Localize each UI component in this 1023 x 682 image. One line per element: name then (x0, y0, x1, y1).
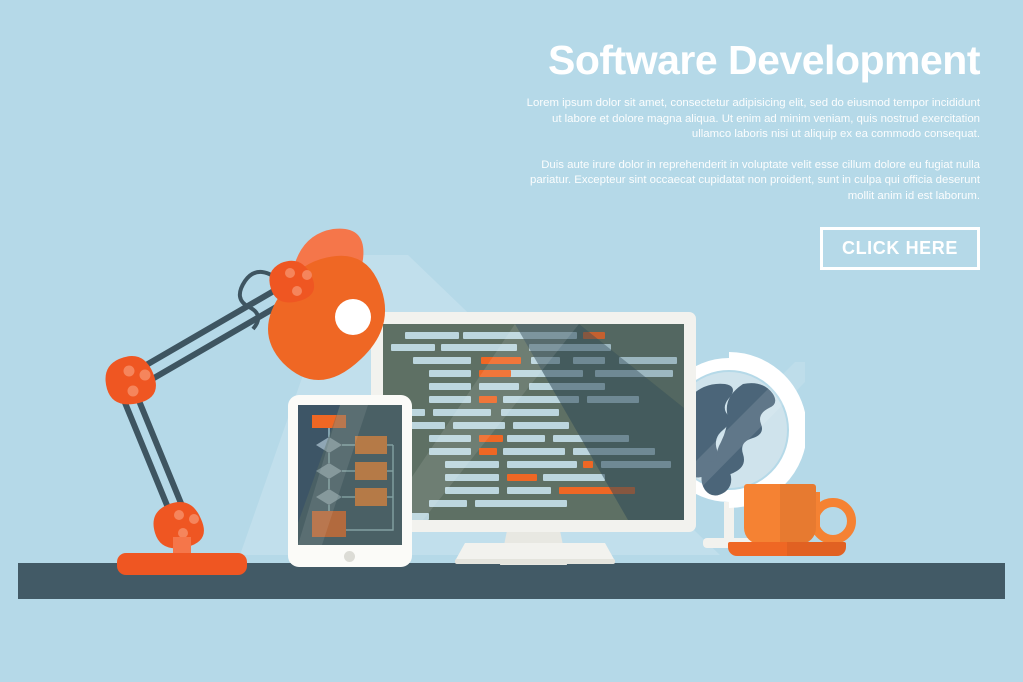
code-line-segment (507, 487, 551, 494)
code-line-segment (463, 332, 577, 339)
code-line-segment (601, 461, 671, 468)
code-line-segment (573, 357, 605, 364)
code-line-segment (481, 357, 521, 364)
code-line-segment (475, 500, 567, 507)
code-line-segment (503, 448, 565, 455)
code-line-segment (391, 344, 435, 351)
code-line-segment (587, 396, 639, 403)
monitor-base (455, 543, 615, 565)
code-line-segment (429, 370, 471, 377)
code-line-segment (479, 435, 503, 442)
body-paragraph-2: Duis aute irure dolor in reprehenderit i… (520, 158, 980, 205)
code-line-segment (503, 396, 579, 403)
code-line-segment (429, 396, 471, 403)
code-line-segment (531, 357, 560, 364)
code-line-segment (619, 357, 677, 364)
code-line-segment (453, 422, 505, 429)
illustration-canvas: Software Development Lorem ipsum dolor s… (0, 0, 1023, 682)
code-line-segment (503, 370, 583, 377)
monitor-screen (383, 324, 684, 520)
cta-container: CLICK HERE (520, 227, 980, 270)
code-line-segment (429, 383, 471, 390)
code-line-segment (559, 487, 635, 494)
code-line-segment (529, 344, 611, 351)
code-line-segment (479, 383, 519, 390)
code-line-segment (553, 435, 629, 442)
code-line-segment (583, 332, 605, 339)
desktop-monitor (371, 312, 696, 565)
code-line-segment (529, 383, 605, 390)
code-line-segment (507, 435, 545, 442)
code-line-segment (543, 474, 605, 481)
code-line-segment (445, 461, 499, 468)
code-line-segment (507, 474, 537, 481)
code-line-segment (501, 409, 559, 416)
page-title: Software Development (520, 38, 980, 82)
coffee-cup (728, 478, 848, 570)
code-line-segment (441, 344, 517, 351)
code-line-segment (507, 461, 577, 468)
code-line-segment (445, 487, 499, 494)
code-line-segment (445, 474, 499, 481)
code-line-segment (429, 435, 471, 442)
desk-lamp (95, 215, 395, 575)
code-line-segment (479, 370, 511, 377)
code-line-segment (433, 409, 491, 416)
body-paragraph-1: Lorem ipsum dolor sit amet, consectetur … (520, 96, 980, 143)
code-line-segment (413, 357, 471, 364)
code-line-segment (479, 396, 497, 403)
code-line-segment (583, 461, 593, 468)
code-line-segment (513, 422, 569, 429)
text-content-block: Software Development Lorem ipsum dolor s… (520, 38, 980, 270)
code-line-segment (595, 370, 673, 377)
cup-body-shade (780, 484, 816, 544)
code-line-segment (405, 332, 459, 339)
cup-saucer-shade (787, 542, 846, 556)
click-here-button[interactable]: CLICK HERE (820, 227, 980, 270)
code-line-segment (429, 448, 471, 455)
code-line-segment (429, 500, 467, 507)
code-line-segment (479, 448, 497, 455)
code-line-segment (573, 448, 655, 455)
